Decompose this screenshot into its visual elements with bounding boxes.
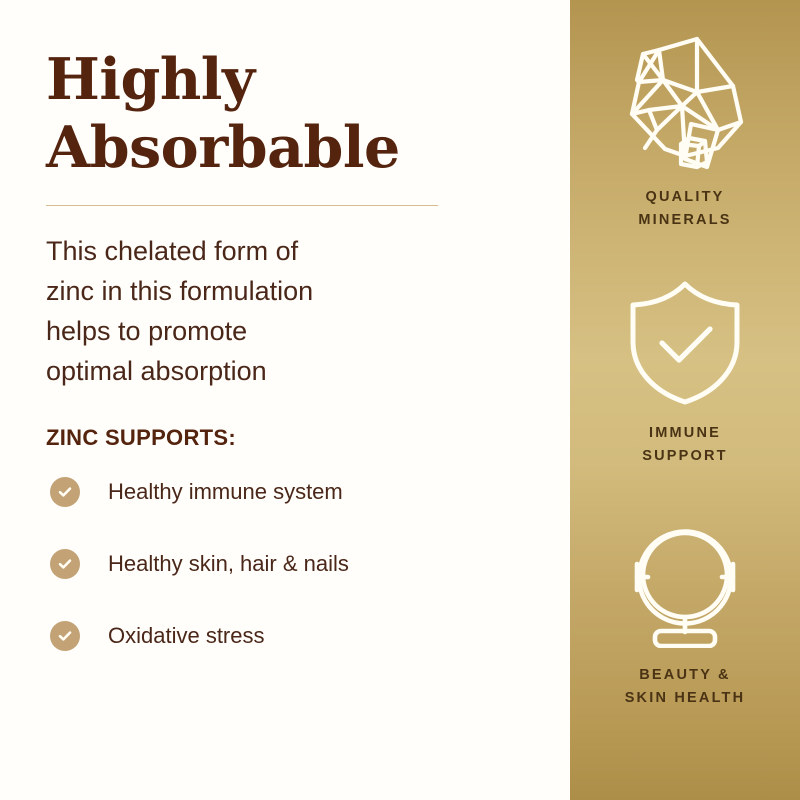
list-item-label: Oxidative stress [80,621,265,651]
body-line-2: zinc in this formulation [46,271,406,311]
body-line-3: helps to promote [46,311,406,351]
body-line-4: optimal absorption [46,351,406,391]
feature-label-line-2: SKIN HEALTH [625,687,746,710]
body-description: This chelated form of zinc in this formu… [46,206,406,391]
crystal-minerals-icon [619,36,751,170]
feature-quality-minerals: QUALITY MINERALS [570,36,800,232]
check-circle-icon [50,549,80,579]
feature-label-line-2: SUPPORT [642,445,728,468]
feature-label-immune-support: IMMUNE SUPPORT [642,406,728,468]
left-content-panel: Highly Absorbable This chelated form of … [0,0,570,800]
shield-check-icon [626,280,744,406]
feature-label-line-1: IMMUNE [642,422,728,445]
headline-line-1: Highly [46,46,524,114]
list-item: Healthy skin, hair & nails [50,549,524,579]
vanity-mirror-icon [617,518,753,648]
list-item-label: Healthy immune system [80,477,343,507]
list-item: Oxidative stress [50,621,524,651]
gold-feature-panel: QUALITY MINERALS IMMUNE SUPPORT [570,0,800,800]
supports-heading: ZINC SUPPORTS: [46,391,524,451]
feature-immune-support: IMMUNE SUPPORT [570,280,800,468]
check-circle-icon [50,621,80,651]
feature-label-line-2: MINERALS [638,209,731,232]
headline-line-2: Absorbable [46,114,524,182]
feature-label-line-1: BEAUTY & [625,664,746,687]
feature-beauty-skin-health: BEAUTY & SKIN HEALTH [570,518,800,710]
feature-label-quality-minerals: QUALITY MINERALS [638,170,731,232]
product-benefits-infographic: Highly Absorbable This chelated form of … [0,0,800,800]
feature-label-beauty-skin-health: BEAUTY & SKIN HEALTH [625,648,746,710]
benefits-list: Healthy immune system Healthy skin, hair… [46,451,524,651]
body-line-1: This chelated form of [46,231,406,271]
list-item: Healthy immune system [50,477,524,507]
list-item-label: Healthy skin, hair & nails [80,549,349,579]
feature-label-line-1: QUALITY [638,186,731,209]
check-circle-icon [50,477,80,507]
page-title: Highly Absorbable [46,46,524,182]
